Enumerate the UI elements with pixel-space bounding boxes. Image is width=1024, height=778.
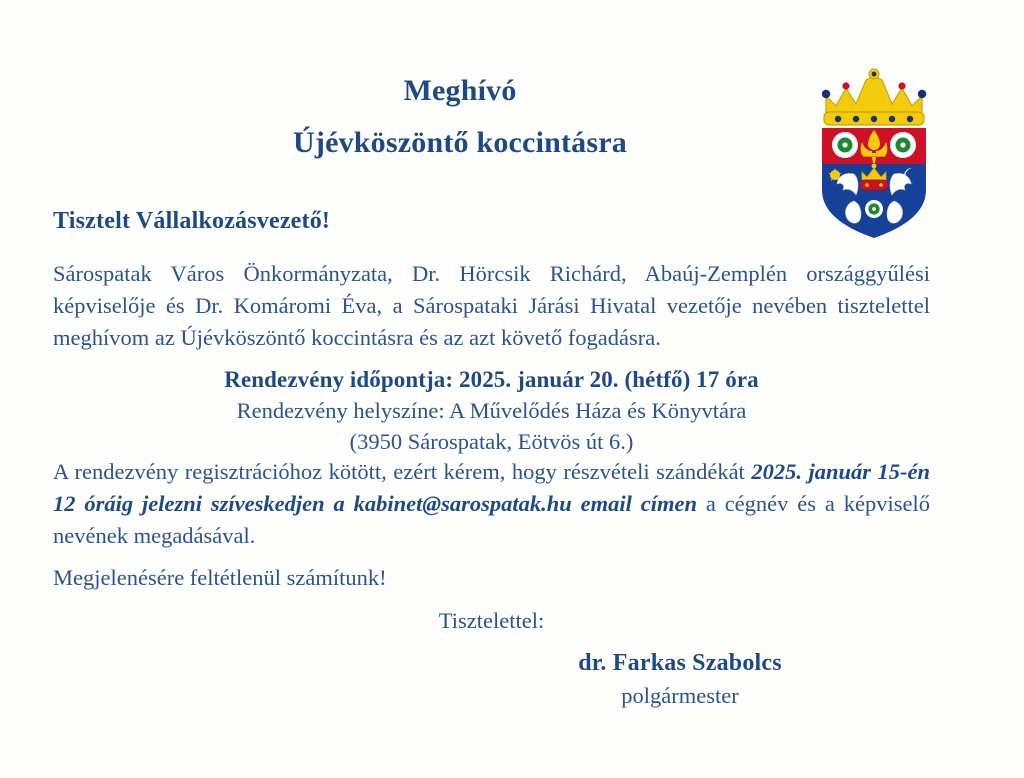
salutation: Tisztelt Vállalkozásvezető! — [53, 208, 330, 235]
crown-shape — [822, 69, 926, 125]
signature-block: dr. Farkas Szabolcs polgármester — [430, 648, 930, 712]
valediction: Tisztelettel: — [53, 608, 930, 634]
sarospatak-coat-of-arms-icon — [812, 62, 936, 242]
closing-line: Megjelenésére feltétlenül számítunk! — [53, 562, 930, 594]
event-address: (3950 Sárospatak, Eötvös út 6.) — [53, 426, 930, 457]
event-venue: Rendezvény helyszíne: A Művelődés Háza é… — [53, 395, 930, 426]
rosette-left — [832, 132, 858, 158]
header-titles: Meghívó Újévköszöntő koccintásra — [120, 72, 800, 161]
rosette-bottom — [865, 200, 883, 218]
page-title: Meghívó — [120, 72, 800, 110]
shield-shape — [820, 126, 928, 238]
intro-paragraph: Sárospatak Város Önkormányzata, Dr. Hörc… — [53, 258, 930, 354]
signature-role: polgármester — [430, 681, 930, 711]
registration-paragraph: A rendezvény regisztrációhoz kötött, ezé… — [53, 456, 930, 552]
rosette-right — [890, 132, 916, 158]
page-subtitle: Újévköszöntő koccintásra — [120, 124, 800, 162]
event-datetime: Rendezvény időpontja: 2025. január 20. (… — [53, 364, 930, 395]
event-details: Rendezvény időpontja: 2025. január 20. (… — [53, 364, 930, 457]
invitation-page: Meghívó Újévköszöntő koccintásra Tisztel… — [0, 0, 1024, 778]
registration-text-part1: A rendezvény regisztrációhoz kötött, ezé… — [53, 459, 751, 484]
signature-name: dr. Farkas Szabolcs — [430, 648, 930, 679]
